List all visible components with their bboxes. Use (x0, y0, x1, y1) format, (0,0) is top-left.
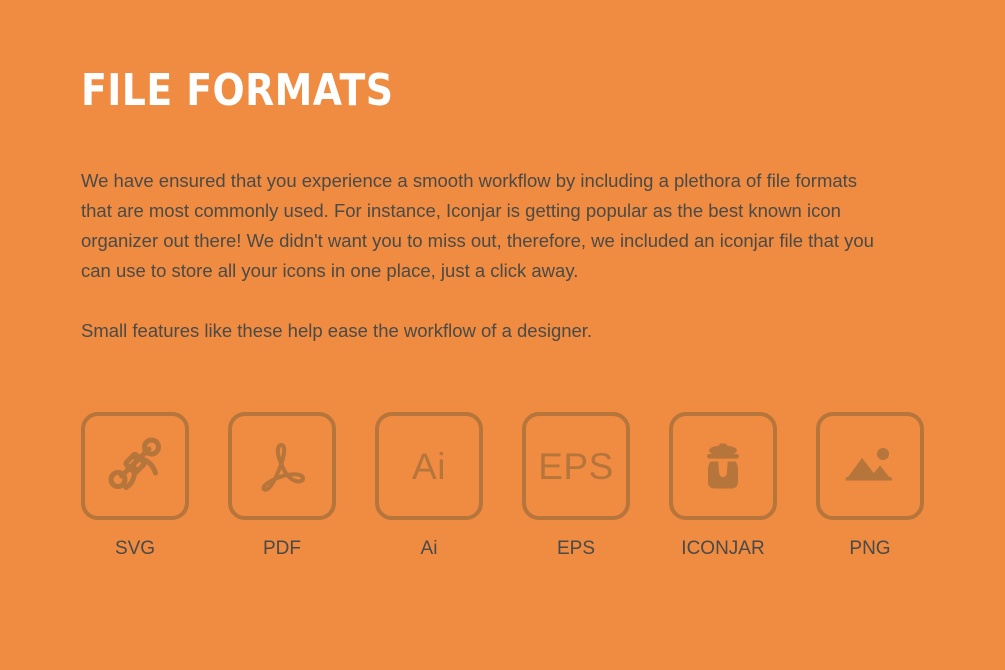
format-box-pdf[interactable] (228, 412, 336, 520)
format-label-svg: SVG (115, 539, 155, 558)
format-box-svg[interactable] (81, 412, 189, 520)
format-item-eps[interactable]: EPS EPS (522, 412, 630, 558)
format-box-eps[interactable]: EPS (522, 412, 630, 520)
format-box-png[interactable] (816, 412, 924, 520)
body-copy: We have ensured that you experience a sm… (81, 166, 881, 346)
jar-icon (693, 436, 753, 496)
format-item-ai[interactable]: Ai Ai (375, 412, 483, 558)
format-label-png: PNG (849, 539, 890, 558)
format-item-png[interactable]: PNG (816, 412, 924, 558)
format-label-pdf: PDF (263, 539, 301, 558)
paragraph-closing: Small features like these help ease the … (81, 316, 881, 346)
acrobat-ribbon-icon (251, 435, 313, 497)
eps-text-icon: EPS (538, 448, 614, 485)
file-formats-slide: FILE FORMATS We have ensured that you ex… (0, 0, 1005, 670)
format-label-ai: Ai (421, 539, 438, 558)
ai-text-icon: Ai (412, 448, 446, 485)
format-label-eps: EPS (557, 539, 595, 558)
format-item-svg[interactable]: SVG (81, 412, 189, 558)
format-label-iconjar: ICONJAR (681, 539, 764, 558)
paragraph-intro: We have ensured that you experience a sm… (81, 166, 881, 286)
page-title: FILE FORMATS (81, 68, 393, 114)
format-item-iconjar[interactable]: ICONJAR (669, 412, 777, 558)
format-box-iconjar[interactable] (669, 412, 777, 520)
bezier-path-icon (104, 435, 166, 497)
format-list: SVG PDF Ai Ai EPS EPS (81, 412, 924, 558)
format-box-ai[interactable]: Ai (375, 412, 483, 520)
format-item-pdf[interactable]: PDF (228, 412, 336, 558)
image-mountain-icon (839, 435, 901, 497)
